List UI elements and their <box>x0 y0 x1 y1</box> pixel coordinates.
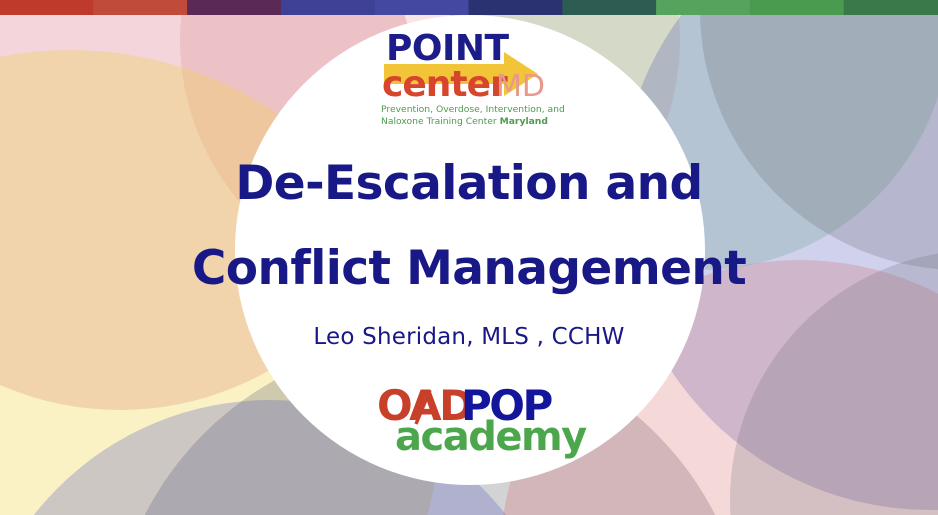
oadpop-academy-logo: OAD POP academy <box>369 378 569 456</box>
slide-content: POINT center MD Prevention, Overdose, In… <box>0 0 938 515</box>
academy-wordmark: academy <box>395 414 587 460</box>
center-wordmark: center <box>382 64 508 105</box>
svg-text:Naloxone Training Center Maryl: Naloxone Training Center Maryland <box>381 116 548 127</box>
page-title-line-2: Conflict Management <box>0 245 938 292</box>
presenter-subtitle: Leo Sheridan, MLS , CCHW <box>0 324 938 350</box>
point-wordmark: POINT <box>386 28 510 69</box>
page-title-line-1: De-Escalation and <box>0 160 938 207</box>
svg-text:Prevention, Overdose, Interven: Prevention, Overdose, Intervention, and <box>381 104 565 115</box>
title-block: De-Escalation and Conflict Management <box>0 160 938 292</box>
point-center-md-logo: POINT center MD Prevention, Overdose, In… <box>376 22 562 130</box>
md-wordmark: MD <box>496 69 545 104</box>
slide-canvas: POINT center MD Prevention, Overdose, In… <box>0 0 938 515</box>
